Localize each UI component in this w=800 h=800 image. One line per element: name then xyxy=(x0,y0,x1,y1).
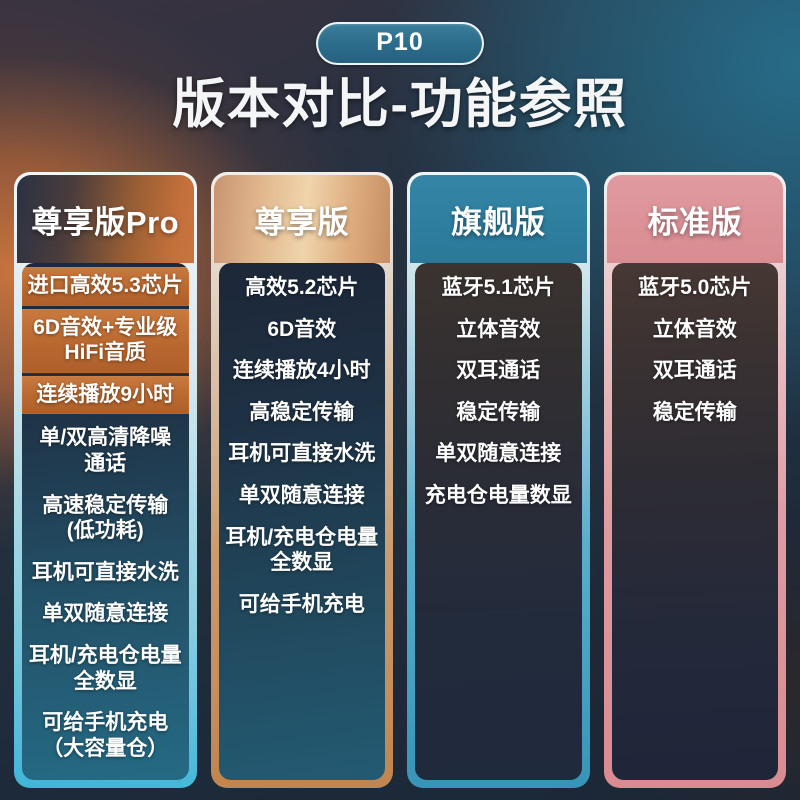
version-card[interactable]: 尊享版高效5.2芯片6D音效连续播放4小时高稳定传输耳机可直接水洗单双随意连接耳… xyxy=(211,172,394,788)
feature-list: 蓝牙5.0芯片立体音效双耳通话稳定传输 xyxy=(612,263,779,780)
version-card[interactable]: 旗舰版蓝牙5.1芯片立体音效双耳通话稳定传输单双随意连接充电仓电量数显 xyxy=(407,172,590,788)
version-card[interactable]: 尊享版Pro进口高效5.3芯片6D音效+专业级 HiFi音质连续播放9小时单/双… xyxy=(14,172,197,788)
feature-item: 高稳定传输 xyxy=(219,392,386,434)
version-card-header: 标准版 xyxy=(607,175,784,263)
comparison-infographic: P10 版本对比-功能参照 尊享版Pro进口高效5.3芯片6D音效+专业级 Hi… xyxy=(0,0,800,800)
feature-item: 可给手机充电 （大容量仓） xyxy=(22,702,189,769)
page-title: 版本对比-功能参照 xyxy=(0,77,800,133)
feature-list: 高效5.2芯片6D音效连续播放4小时高稳定传输耳机可直接水洗单双随意连接耳机/充… xyxy=(219,263,386,780)
feature-item: 6D音效 xyxy=(219,309,386,351)
version-card-inner: 尊享版高效5.2芯片6D音效连续播放4小时高稳定传输耳机可直接水洗单双随意连接耳… xyxy=(214,175,391,785)
feature-item: 立体音效 xyxy=(612,309,779,351)
version-card-header: 尊享版Pro xyxy=(17,175,194,263)
feature-item: 稳定传输 xyxy=(612,392,779,434)
feature-item: 耳机可直接水洗 xyxy=(22,552,189,594)
feature-item: 稳定传输 xyxy=(415,392,582,434)
version-card-header: 尊享版 xyxy=(214,175,391,263)
feature-item: 双耳通话 xyxy=(415,350,582,392)
version-card-header: 旗舰版 xyxy=(410,175,587,263)
feature-item: 单双随意连接 xyxy=(22,593,189,635)
feature-item: 高速稳定传输 (低功耗) xyxy=(22,485,189,552)
feature-item-highlighted: 进口高效5.3芯片 xyxy=(22,267,189,306)
version-card-title: 尊享版 xyxy=(255,197,350,242)
page-header: P10 版本对比-功能参照 xyxy=(0,0,800,158)
feature-item: 单/双高清降噪 通话 xyxy=(22,417,189,484)
version-card-inner: 尊享版Pro进口高效5.3芯片6D音效+专业级 HiFi音质连续播放9小时单/双… xyxy=(17,175,194,785)
version-card-inner: 标准版蓝牙5.0芯片立体音效双耳通话稳定传输 xyxy=(607,175,784,785)
feature-item: 耳机可直接水洗 xyxy=(219,433,386,475)
feature-item-highlighted: 连续播放9小时 xyxy=(22,376,189,415)
feature-item: 蓝牙5.1芯片 xyxy=(415,267,582,309)
feature-item: 单双随意连接 xyxy=(415,433,582,475)
feature-item: 充电仓电量数显 xyxy=(415,475,582,517)
version-card-title: 标准版 xyxy=(648,197,743,242)
version-card-title: 旗舰版 xyxy=(451,197,546,242)
feature-list: 蓝牙5.1芯片立体音效双耳通话稳定传输单双随意连接充电仓电量数显 xyxy=(415,263,582,780)
feature-list: 进口高效5.3芯片6D音效+专业级 HiFi音质连续播放9小时单/双高清降噪 通… xyxy=(22,263,189,780)
feature-item: 连续播放4小时 xyxy=(219,350,386,392)
version-cards-container: 尊享版Pro进口高效5.3芯片6D音效+专业级 HiFi音质连续播放9小时单/双… xyxy=(14,172,786,788)
feature-item: 蓝牙5.0芯片 xyxy=(612,267,779,309)
feature-item: 可给手机充电 xyxy=(219,584,386,626)
feature-item: 耳机/充电仓电量 全数显 xyxy=(22,635,189,702)
feature-item: 高效5.2芯片 xyxy=(219,267,386,309)
version-card-title: 尊享版Pro xyxy=(31,197,179,242)
feature-item: 耳机/充电仓电量 全数显 xyxy=(219,517,386,584)
feature-item: 单双随意连接 xyxy=(219,475,386,517)
feature-item-highlighted: 6D音效+专业级 HiFi音质 xyxy=(22,309,189,373)
product-model-badge: P10 xyxy=(316,22,484,65)
feature-item: 双耳通话 xyxy=(612,350,779,392)
version-card-inner: 旗舰版蓝牙5.1芯片立体音效双耳通话稳定传输单双随意连接充电仓电量数显 xyxy=(410,175,587,785)
feature-item: 立体音效 xyxy=(415,309,582,351)
version-card[interactable]: 标准版蓝牙5.0芯片立体音效双耳通话稳定传输 xyxy=(604,172,787,788)
